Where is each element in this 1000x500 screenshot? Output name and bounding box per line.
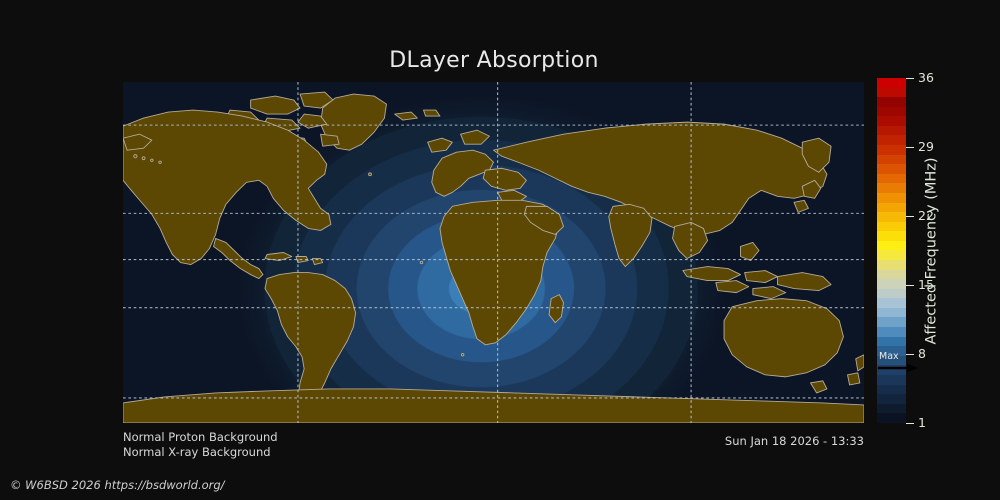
colorbar-segment bbox=[877, 241, 906, 251]
colorbar-segment bbox=[877, 174, 906, 184]
colorbar-segment bbox=[877, 250, 906, 260]
colorbar-max-marker: Max bbox=[877, 352, 921, 376]
colorbar-segment bbox=[877, 203, 906, 213]
xray-background-note: Normal X-ray Background bbox=[123, 445, 278, 460]
colorbar-segment bbox=[877, 337, 906, 347]
proton-background-note: Normal Proton Background bbox=[123, 430, 278, 445]
colorbar-segment bbox=[877, 97, 906, 107]
colorbar-segment bbox=[877, 327, 906, 337]
colorbar-segment bbox=[877, 116, 906, 126]
colorbar-segment bbox=[877, 317, 906, 327]
colorbar-segment bbox=[877, 135, 906, 145]
timestamp: Sun Jan 18 2026 - 13:33 bbox=[564, 434, 864, 448]
colorbar-segment bbox=[877, 183, 906, 193]
max-marker-label: Max bbox=[879, 352, 899, 362]
colorbar-segment bbox=[877, 298, 906, 308]
colorbar-segment bbox=[877, 289, 906, 299]
colorbar-segment bbox=[877, 260, 906, 270]
colorbar-segment bbox=[877, 145, 906, 155]
colorbar-segment bbox=[877, 413, 906, 423]
colorbar-segment bbox=[877, 231, 906, 241]
colorbar-segment bbox=[877, 88, 906, 98]
colorbar-segment bbox=[877, 279, 906, 289]
background-conditions: Normal Proton Background Normal X-ray Ba… bbox=[123, 430, 278, 460]
page-title: DLayer Absorption bbox=[0, 48, 988, 73]
colorbar-segment bbox=[877, 308, 906, 318]
colorbar-segment bbox=[877, 155, 906, 165]
colorbar-segment bbox=[877, 394, 906, 404]
colorbar-segment bbox=[877, 164, 906, 174]
world-absorption-map bbox=[123, 82, 864, 423]
colorbar-segment bbox=[877, 107, 906, 117]
max-marker-arrow-icon bbox=[877, 362, 919, 374]
colorbar-segment bbox=[877, 222, 906, 232]
colorbar-segment bbox=[877, 78, 906, 88]
colorbar-segment bbox=[877, 212, 906, 222]
colorbar-axis-label-text: Affected Frequency (MHz) bbox=[924, 157, 940, 344]
colorbar-segment bbox=[877, 375, 906, 385]
colorbar-segment bbox=[877, 270, 906, 280]
colorbar-segment bbox=[877, 126, 906, 136]
copyright-notice: © W6BSD 2026 https://bsdworld.org/ bbox=[10, 478, 225, 492]
propagation-map-page: DLayer Absorption bbox=[0, 0, 1000, 500]
colorbar-segment bbox=[877, 193, 906, 203]
colorbar-segment bbox=[877, 404, 906, 414]
colorbar-segment bbox=[877, 385, 906, 395]
colorbar-tick-mark bbox=[906, 423, 914, 424]
